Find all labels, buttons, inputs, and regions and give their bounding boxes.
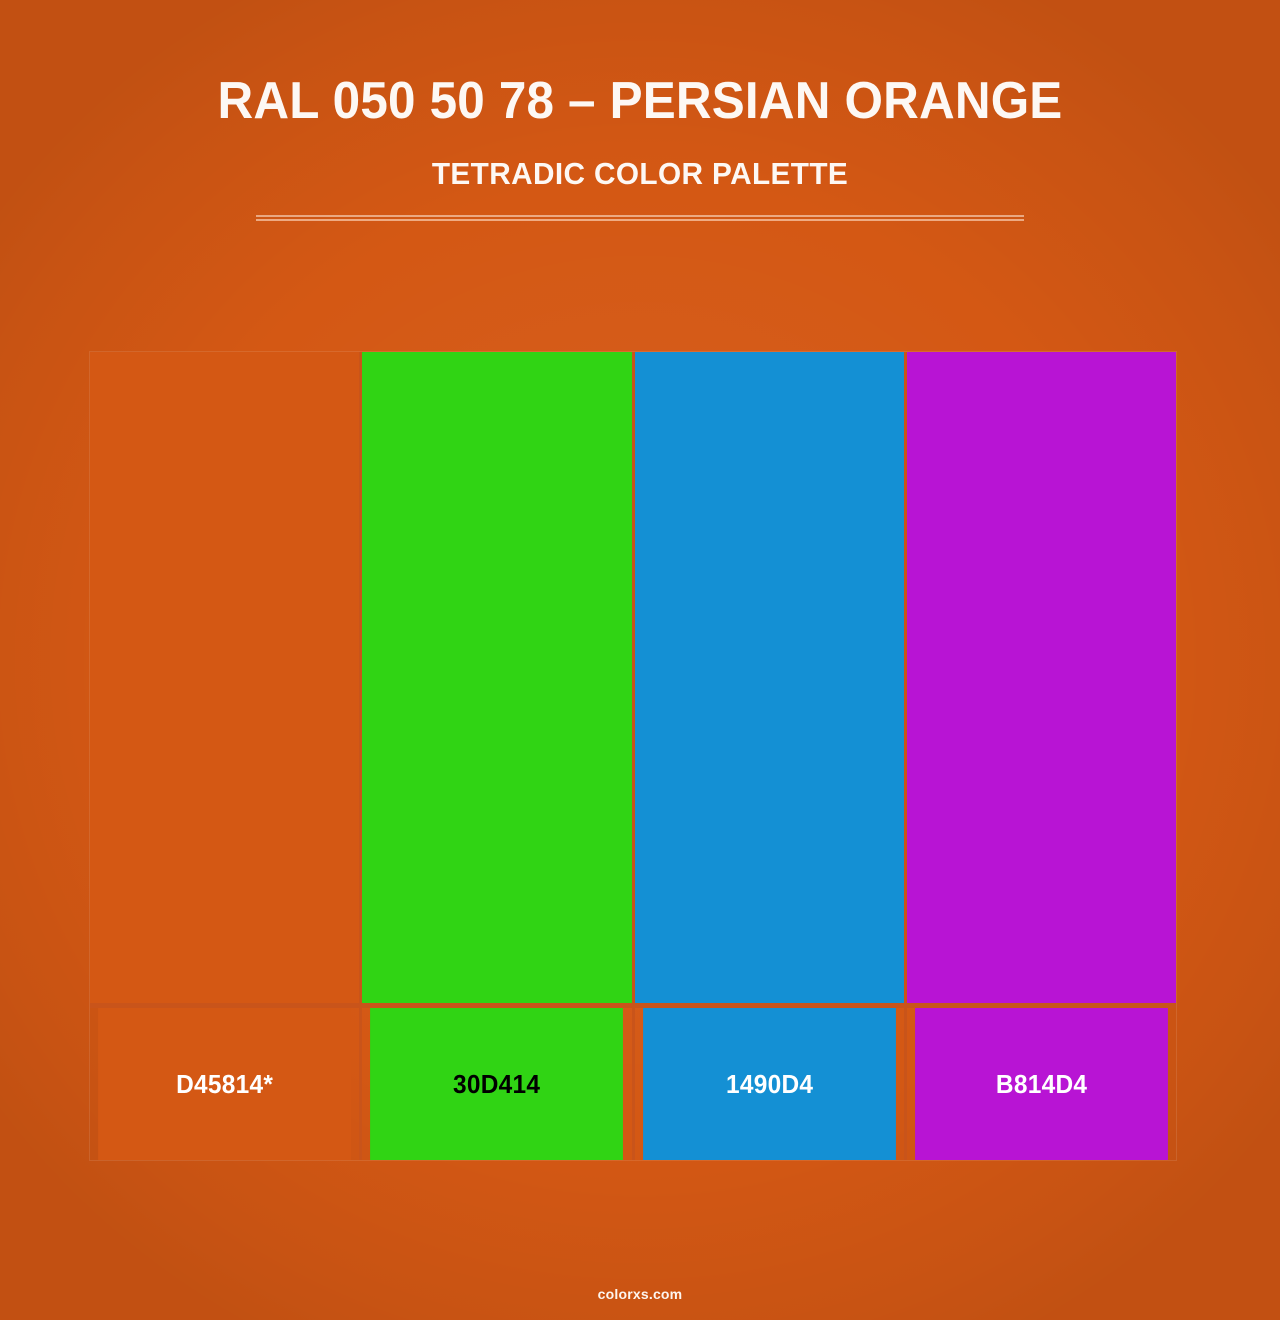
divider-line-top xyxy=(256,215,1024,217)
divider-line-bottom xyxy=(256,219,1024,221)
swatch-color-block[interactable] xyxy=(907,352,1176,1003)
footer-site-label: colorxs.com xyxy=(0,1286,1280,1302)
header: RAL 050 50 78 – PERSIAN ORANGE TETRADIC … xyxy=(0,0,1280,221)
swatch-column[interactable]: 30D414 xyxy=(359,352,631,1160)
page-subtitle: TETRADIC COLOR PALETTE xyxy=(26,156,1255,192)
swatch-hex-label[interactable]: 1490D4 xyxy=(643,1008,896,1160)
swatch-column[interactable]: D45814* xyxy=(90,352,359,1160)
swatch-hex-label[interactable]: 30D414 xyxy=(370,1008,623,1160)
swatch-color-block[interactable] xyxy=(90,352,359,1003)
swatch-column[interactable]: 1490D4 xyxy=(632,352,904,1160)
swatch-color-block[interactable] xyxy=(362,352,631,1003)
header-divider xyxy=(256,215,1024,221)
palette-grid: D45814*30D4141490D4B814D4 xyxy=(90,352,1176,1160)
swatch-hex-label[interactable]: B814D4 xyxy=(915,1008,1168,1160)
color-palette-page: RAL 050 50 78 – PERSIAN ORANGE TETRADIC … xyxy=(0,0,1280,1320)
swatch-column[interactable]: B814D4 xyxy=(904,352,1176,1160)
swatch-hex-label[interactable]: D45814* xyxy=(98,1008,351,1160)
swatch-color-block[interactable] xyxy=(635,352,904,1003)
page-title: RAL 050 50 78 – PERSIAN ORANGE xyxy=(32,72,1248,130)
